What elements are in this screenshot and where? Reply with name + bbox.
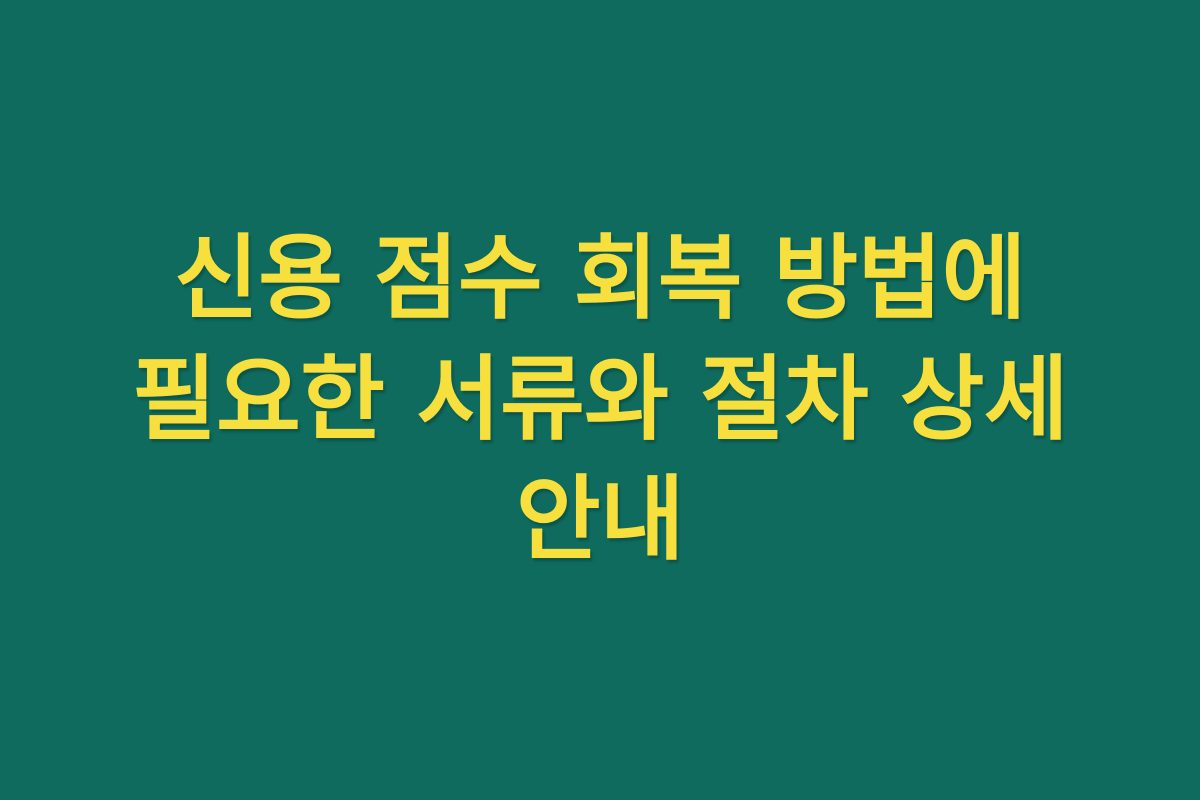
- title-line-1: 신용 점수 회복 방법에: [72, 219, 1128, 340]
- title-line-3: 안내: [72, 460, 1128, 581]
- title-line-2: 필요한 서류와 절차 상세: [72, 340, 1128, 461]
- title-banner: 신용 점수 회복 방법에 필요한 서류와 절차 상세 안내: [0, 0, 1200, 800]
- page-title: 신용 점수 회복 방법에 필요한 서류와 절차 상세 안내: [72, 219, 1128, 581]
